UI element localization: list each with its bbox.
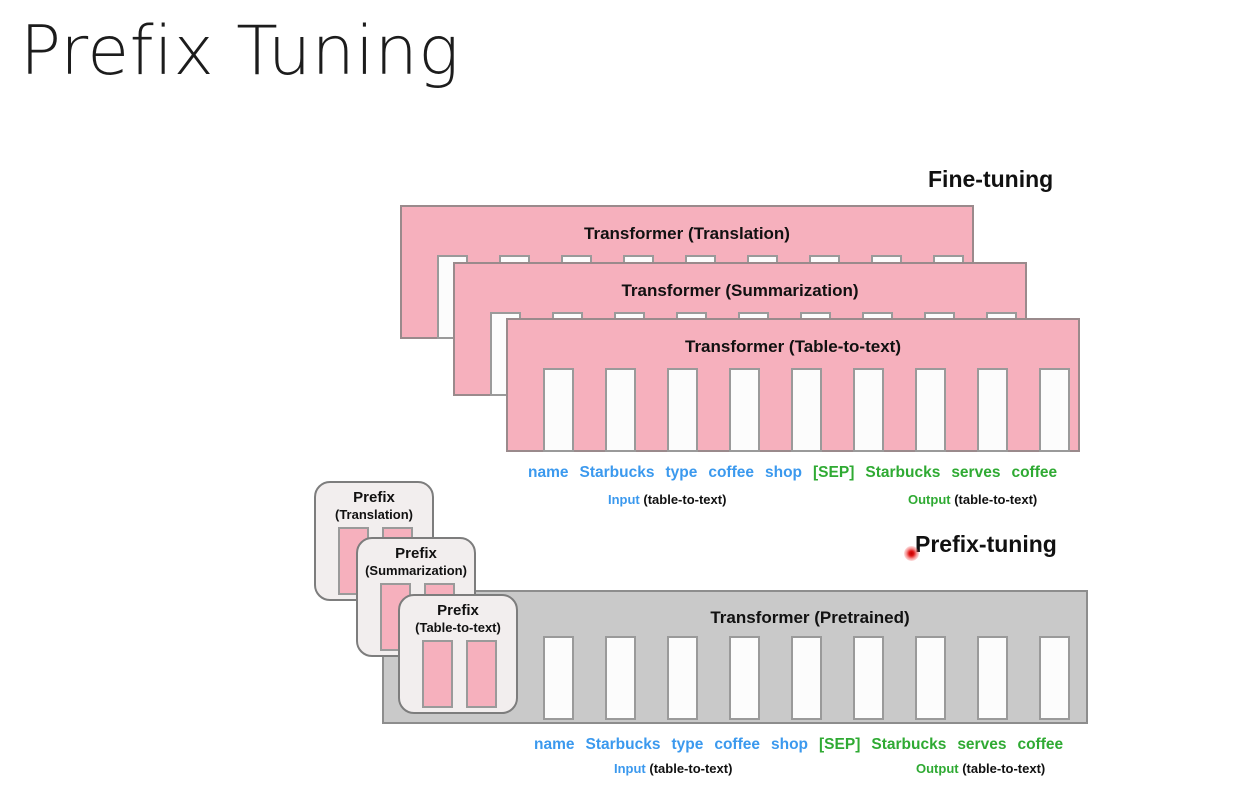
caption-key: Output bbox=[916, 761, 959, 776]
token-input: Starbucks bbox=[586, 736, 661, 754]
prefix-tuning-heading: Prefix-tuning bbox=[915, 531, 1057, 558]
token-row-fine-tuning: nameStarbuckstypecoffeeshop[SEP]Starbuck… bbox=[528, 464, 1057, 482]
prefix-box-title: Prefix bbox=[316, 489, 432, 506]
token-slot bbox=[667, 368, 698, 452]
prefix-box-title: Prefix bbox=[358, 545, 474, 562]
token-input: coffee bbox=[714, 736, 760, 754]
token-input: type bbox=[671, 736, 703, 754]
token-slot bbox=[853, 368, 884, 452]
token-output: serves bbox=[951, 464, 1000, 482]
transformer-block-table-to-text: Transformer (Table-to-text) bbox=[506, 318, 1080, 452]
caption-rest: (table-to-text) bbox=[646, 761, 733, 776]
prefix-slot bbox=[466, 640, 497, 708]
caption-output-fine-tuning: Output (table-to-text) bbox=[908, 492, 1037, 507]
prefix-box-title: Prefix bbox=[400, 602, 516, 619]
token-slot bbox=[977, 636, 1008, 720]
token-output: Starbucks bbox=[871, 736, 946, 754]
page-title: Prefix Tuning bbox=[20, 18, 460, 86]
token-slot bbox=[605, 368, 636, 452]
token-output: Starbucks bbox=[865, 464, 940, 482]
caption-key: Output bbox=[908, 492, 951, 507]
token-slot bbox=[667, 636, 698, 720]
token-slot bbox=[729, 368, 760, 452]
caption-output-prefix-tuning: Output (table-to-text) bbox=[916, 761, 1045, 776]
token-output: [SEP] bbox=[813, 464, 854, 482]
token-input: Starbucks bbox=[580, 464, 655, 482]
token-slot bbox=[791, 368, 822, 452]
prefix-box-subtitle: (Translation) bbox=[316, 507, 432, 522]
token-input: coffee bbox=[708, 464, 754, 482]
transformer-block-label: Transformer (Pretrained) bbox=[534, 608, 1086, 628]
token-input: type bbox=[665, 464, 697, 482]
token-slot bbox=[853, 636, 884, 720]
token-slot bbox=[1039, 368, 1070, 452]
slide-canvas: Prefix Tuning Fine-tuning Transformer (T… bbox=[0, 0, 1236, 799]
token-input: name bbox=[534, 736, 575, 754]
token-output: [SEP] bbox=[819, 736, 860, 754]
caption-rest: (table-to-text) bbox=[959, 761, 1046, 776]
token-slot bbox=[791, 636, 822, 720]
token-output: serves bbox=[957, 736, 1006, 754]
caption-key: Input bbox=[608, 492, 640, 507]
token-output: coffee bbox=[1011, 464, 1057, 482]
token-slot bbox=[977, 368, 1008, 452]
caption-rest: (table-to-text) bbox=[951, 492, 1038, 507]
prefix-slot bbox=[422, 640, 453, 708]
token-input: shop bbox=[765, 464, 802, 482]
fine-tuning-heading: Fine-tuning bbox=[928, 166, 1053, 193]
token-slot bbox=[1039, 636, 1070, 720]
prefix-box-subtitle: (Summarization) bbox=[358, 563, 474, 578]
token-input: name bbox=[528, 464, 569, 482]
token-row-prefix-tuning: nameStarbuckstypecoffeeshop[SEP]Starbuck… bbox=[534, 736, 1063, 754]
token-input: shop bbox=[771, 736, 808, 754]
token-slot bbox=[915, 368, 946, 452]
token-slot-group bbox=[508, 320, 1078, 450]
token-slot bbox=[543, 636, 574, 720]
caption-rest: (table-to-text) bbox=[640, 492, 727, 507]
prefix-box-subtitle: (Table-to-text) bbox=[400, 620, 516, 635]
token-output: coffee bbox=[1017, 736, 1063, 754]
token-slot bbox=[729, 636, 760, 720]
prefix-box-table-to-text: Prefix (Table-to-text) bbox=[398, 594, 518, 714]
laser-pointer-icon bbox=[904, 546, 919, 561]
caption-input-prefix-tuning: Input (table-to-text) bbox=[614, 761, 732, 776]
token-slot bbox=[543, 368, 574, 452]
caption-input-fine-tuning: Input (table-to-text) bbox=[608, 492, 726, 507]
token-slot bbox=[915, 636, 946, 720]
caption-key: Input bbox=[614, 761, 646, 776]
token-slot bbox=[605, 636, 636, 720]
